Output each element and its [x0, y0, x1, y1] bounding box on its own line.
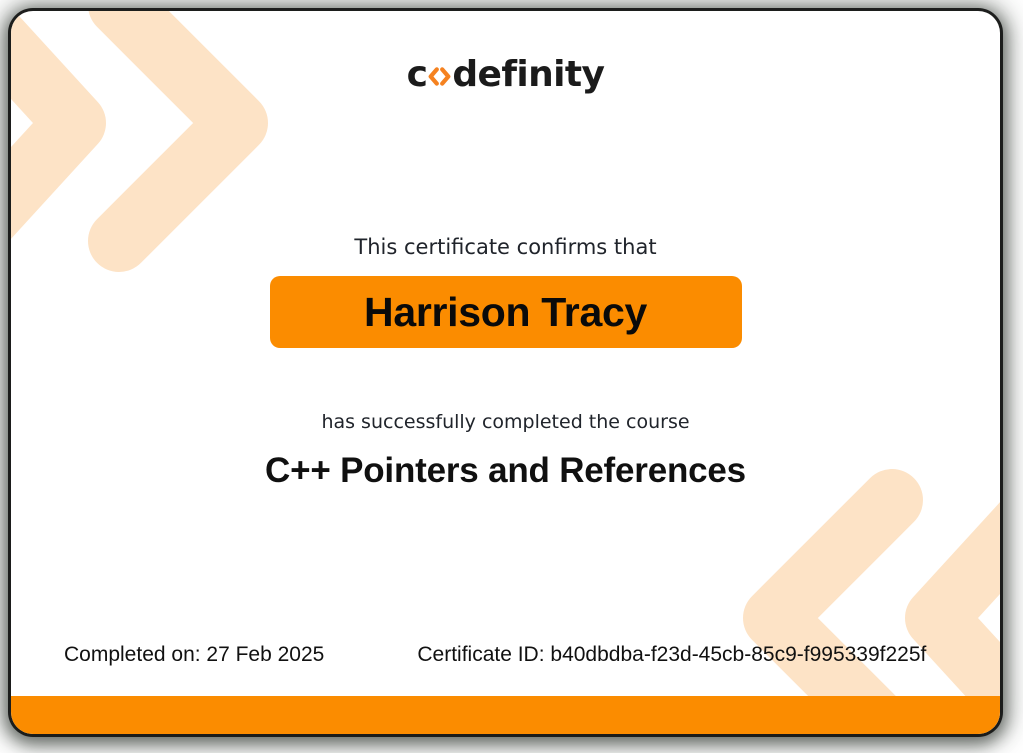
certificate-content: c definity This certificate confirms tha… — [11, 11, 1000, 734]
screenshot-stage: c definity This certificate confirms tha… — [0, 0, 1023, 753]
recipient-name: Harrison Tracy — [364, 289, 647, 336]
certificate-footer: Completed on: 27 Feb 2025 Certificate ID… — [64, 643, 970, 667]
codefinity-logo: c definity — [407, 57, 605, 93]
logo-text-suffix: definity — [452, 57, 604, 93]
diamond-chevron-icon — [428, 65, 451, 88]
certificate-card: c definity This certificate confirms tha… — [11, 11, 1000, 734]
course-line: has successfully completed the course — [11, 411, 1000, 433]
logo-text-prefix: c — [407, 57, 428, 93]
confirm-line: This certificate confirms that — [11, 235, 1000, 259]
completed-on-text: Completed on: 27 Feb 2025 — [64, 643, 324, 667]
brand-logo-row: c definity — [11, 57, 1000, 93]
certificate-id-text: Certificate ID: b40dbdba-f23d-45cb-85c9-… — [417, 643, 926, 667]
recipient-name-banner: Harrison Tracy — [270, 276, 742, 348]
course-title: C++ Pointers and References — [11, 451, 1000, 491]
bottom-accent-bar — [11, 696, 1000, 734]
